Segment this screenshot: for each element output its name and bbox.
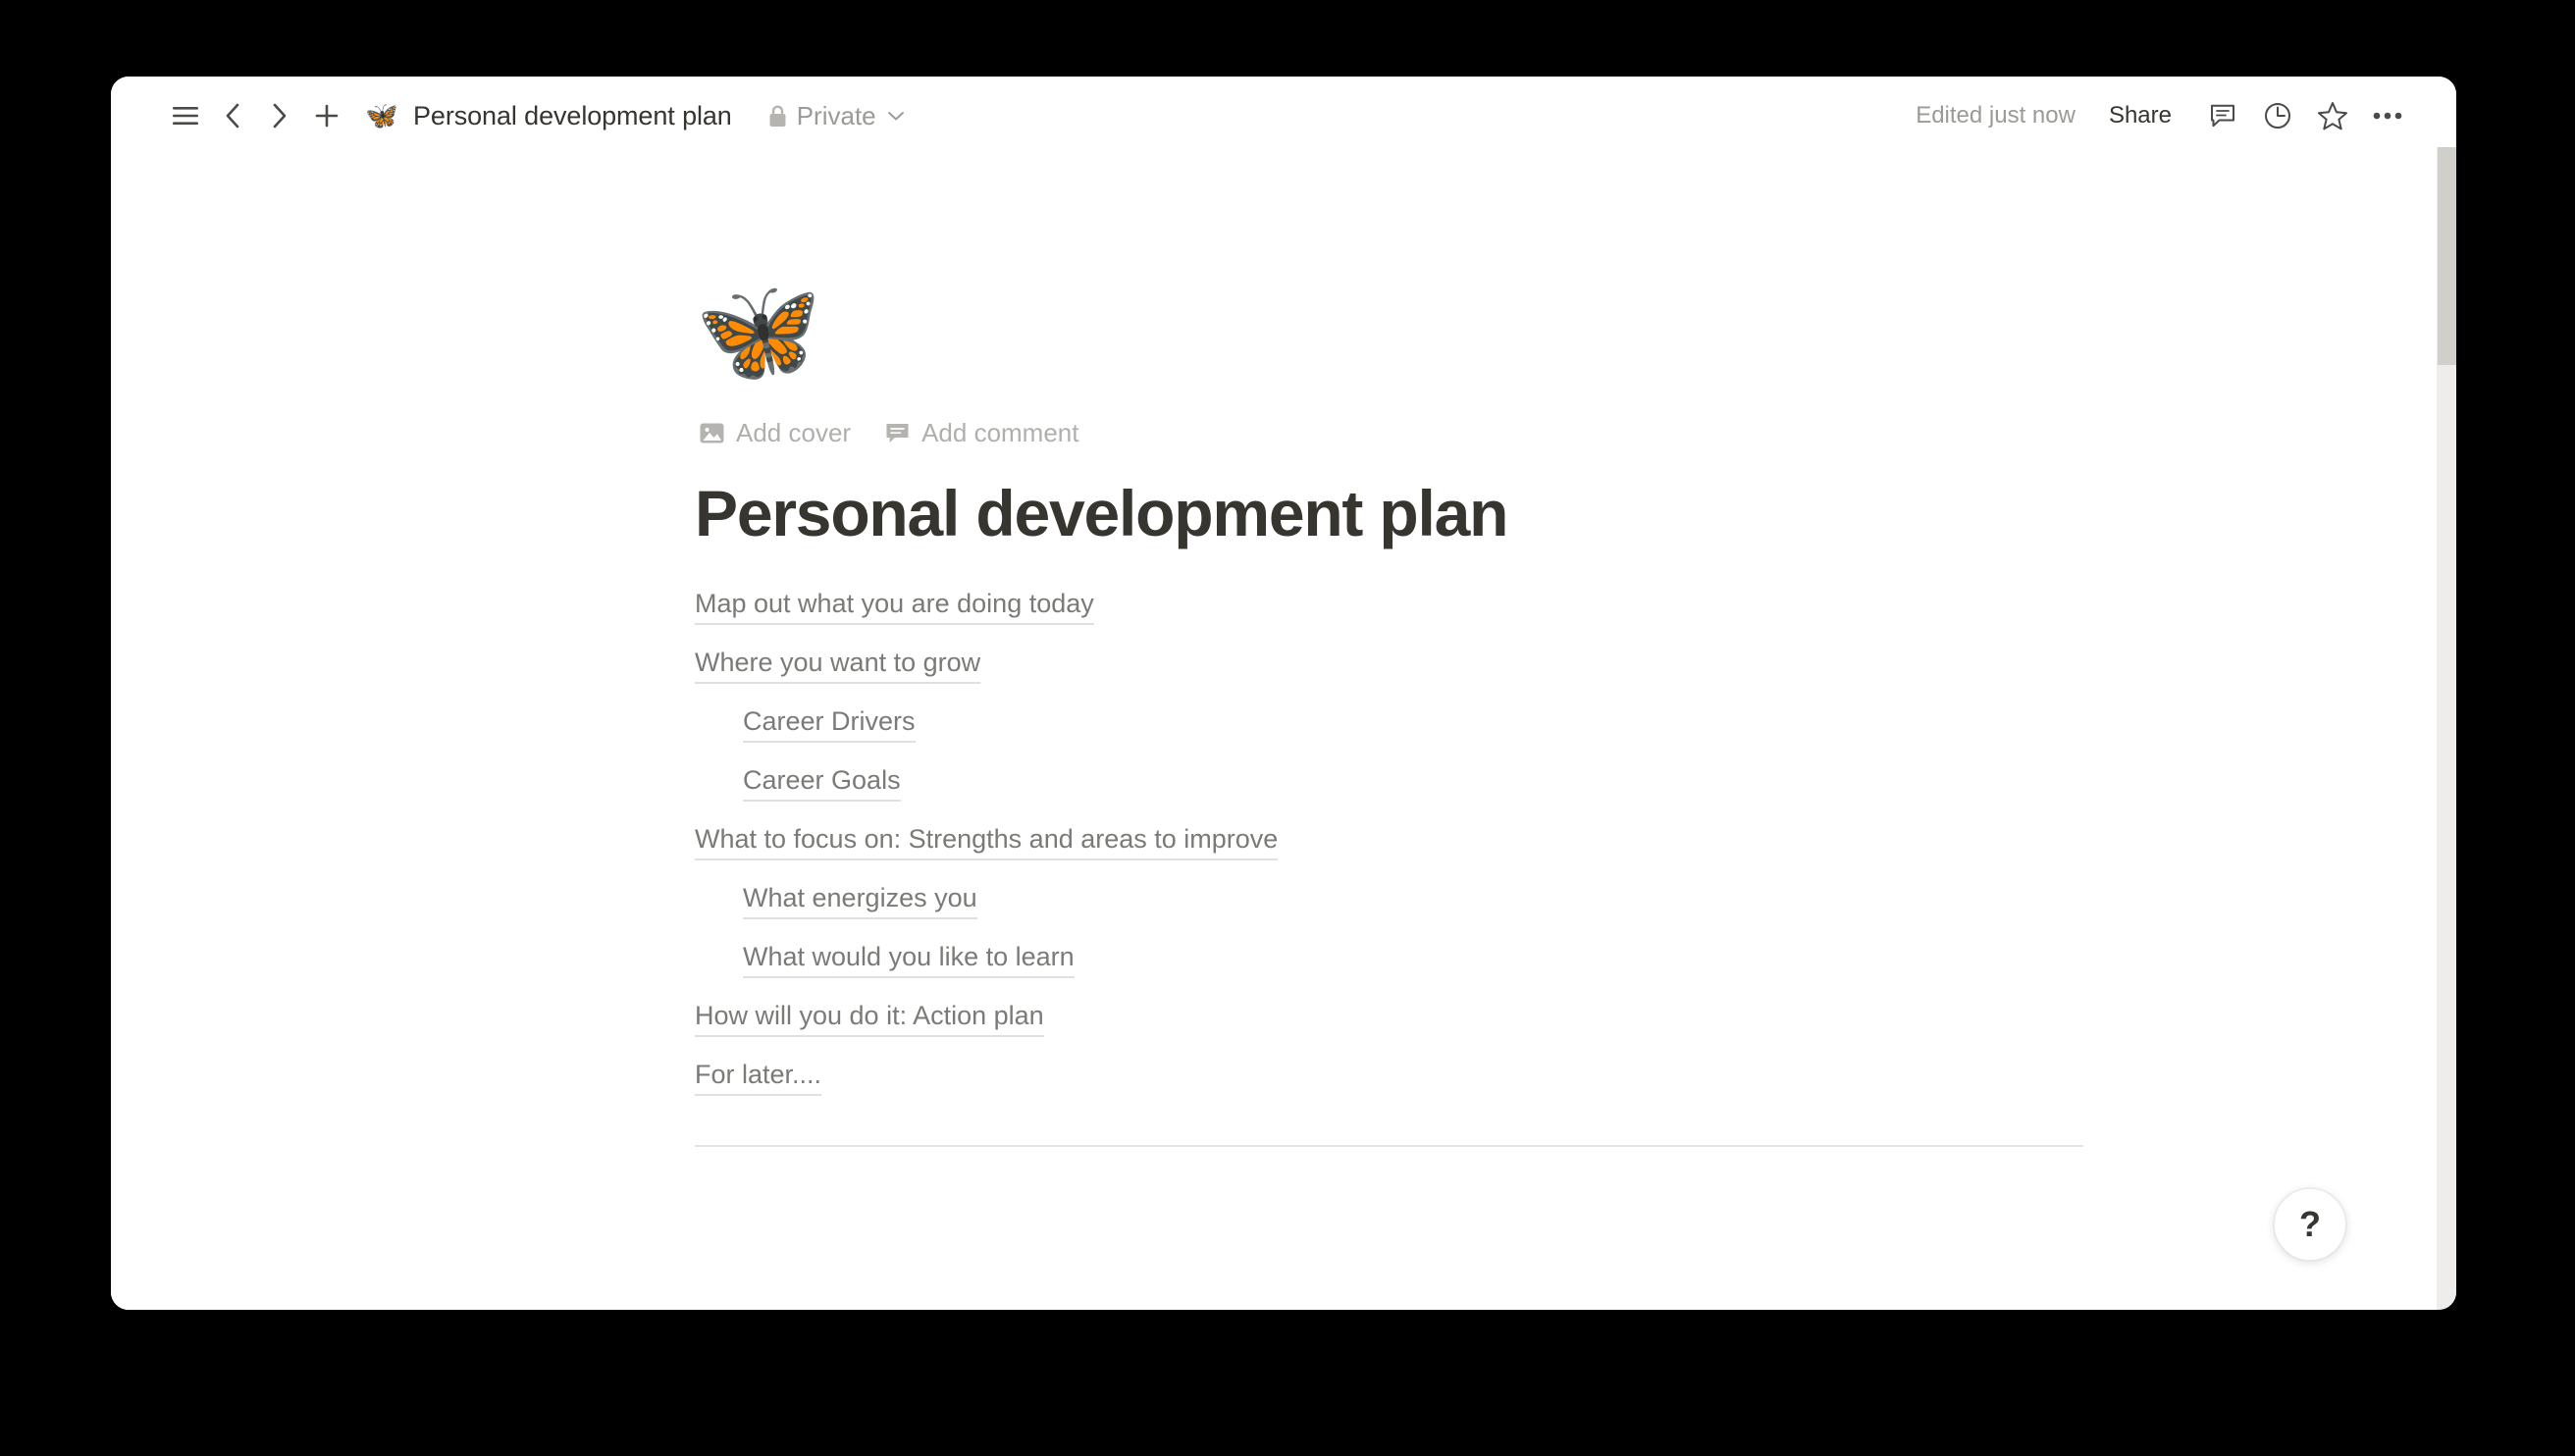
ellipsis-icon[interactable] (2362, 90, 2413, 141)
toc-link[interactable]: Map out what you are doing today (695, 589, 1094, 625)
plus-icon[interactable] (303, 92, 350, 139)
toc-link[interactable]: What energizes you (743, 883, 977, 919)
document-emoji-icon[interactable]: 🦋 (366, 100, 397, 131)
toc-item: What would you like to learn (695, 927, 2422, 986)
page-inner: 🦋 Add cover (111, 155, 2422, 1147)
horizontal-divider (695, 1145, 2083, 1147)
toc-item: For later.... (695, 1045, 2422, 1104)
toc-link[interactable]: For later.... (695, 1060, 821, 1096)
top-bar-right-group: Edited just now Share (1906, 90, 2456, 141)
top-bar-left-group: 🦋 Personal development plan Private (111, 92, 913, 139)
toc-link[interactable]: What would you like to learn (743, 942, 1075, 978)
image-icon (699, 420, 725, 446)
toc-item: Where you want to grow (695, 633, 2422, 692)
hamburger-menu-icon[interactable] (162, 92, 209, 139)
toc-item: Career Drivers (695, 692, 2422, 751)
toc-item: What to focus on: Strengths and areas to… (695, 809, 2422, 868)
help-button[interactable]: ? (2274, 1188, 2346, 1261)
privacy-selector[interactable]: Private (760, 97, 913, 135)
page-content-area: 🦋 Add cover (111, 155, 2422, 1310)
chevron-right-icon[interactable] (256, 92, 303, 139)
toc-link[interactable]: Career Goals (743, 765, 901, 802)
top-bar: 🦋 Personal development plan Private (111, 77, 2456, 155)
page-title[interactable]: Personal development plan (695, 475, 2422, 552)
toc-item: Map out what you are doing today (695, 574, 2422, 633)
page-icon-emoji[interactable]: 🦋 (695, 273, 852, 392)
clock-icon[interactable] (2252, 90, 2303, 141)
add-cover-label: Add cover (736, 418, 851, 448)
add-comment-button[interactable]: Add comment (880, 415, 1082, 451)
comment-icon[interactable] (2197, 90, 2248, 141)
table-of-contents: Map out what you are doing today Where y… (695, 574, 2422, 1104)
comment-icon (884, 420, 911, 446)
chevron-down-icon (887, 110, 905, 122)
add-cover-button[interactable]: Add cover (695, 415, 855, 451)
desktop-background: 🦋 Personal development plan Private (0, 0, 2575, 1456)
document-title-breadcrumb[interactable]: Personal development plan (407, 98, 738, 134)
toc-item: Career Goals (695, 751, 2422, 809)
share-button[interactable]: Share (2097, 94, 2183, 137)
lock-icon (767, 104, 788, 129)
toc-item: What energizes you (695, 868, 2422, 927)
add-comment-label: Add comment (921, 418, 1078, 448)
star-icon[interactable] (2307, 90, 2358, 141)
chevron-left-icon[interactable] (209, 92, 256, 139)
toc-item: How will you do it: Action plan (695, 986, 2422, 1045)
vertical-scrollbar-track[interactable] (2437, 147, 2456, 1310)
page-action-bar: Add cover Add comment (695, 414, 2422, 451)
toc-link[interactable]: Where you want to grow (695, 648, 980, 684)
toc-link[interactable]: Career Drivers (743, 706, 916, 743)
toc-link[interactable]: What to focus on: Strengths and areas to… (695, 824, 1278, 860)
vertical-scrollbar-thumb[interactable] (2438, 147, 2456, 365)
question-mark-icon: ? (2299, 1207, 2321, 1242)
toc-link[interactable]: How will you do it: Action plan (695, 1001, 1044, 1037)
privacy-label: Private (797, 101, 876, 131)
app-window: 🦋 Personal development plan Private (111, 77, 2456, 1310)
edited-status[interactable]: Edited just now (1906, 96, 2085, 135)
